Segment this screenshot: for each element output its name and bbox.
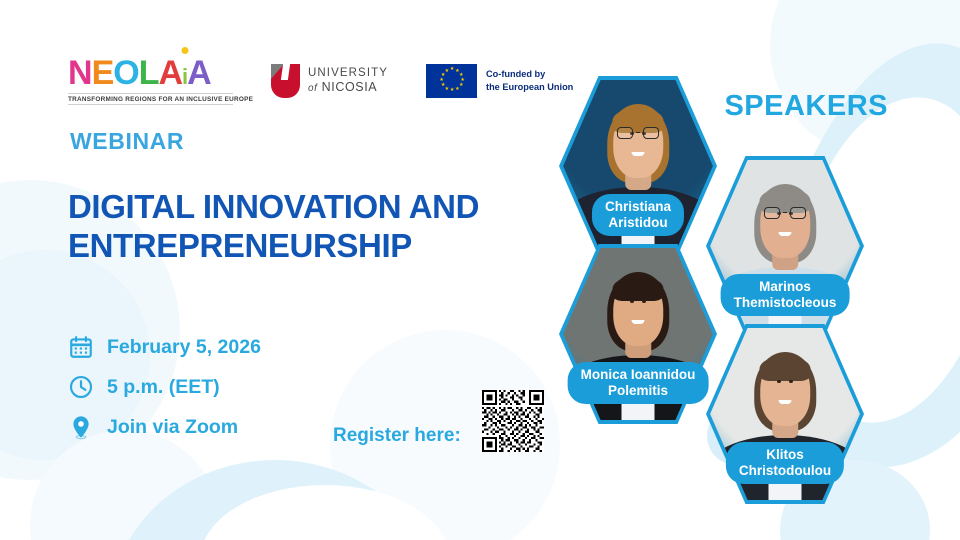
page-title: DIGITAL INNOVATION AND ENTREPRENEURSHIP: [68, 188, 568, 265]
calendar-icon: [68, 334, 94, 360]
speaker-name-pill: KlitosChristodoulou: [726, 442, 844, 484]
university-of-word: of: [308, 83, 318, 94]
neolaia-letter-2: O: [113, 56, 138, 90]
eu-funding-text: Co-funded by the European Union: [486, 68, 573, 93]
neolaia-logo: NEOLAiA TRANSFORMING REGIONS FOR AN INCL…: [68, 56, 233, 105]
register-label: Register here:: [333, 425, 461, 447]
eu-star-icon: ★: [441, 84, 444, 87]
eu-cofunded-logo: ★★★★★★★★★★★★ Co-funded by the European U…: [426, 64, 573, 98]
neolaia-letter-0: N: [68, 56, 92, 90]
detail-row-clock: 5 p.m. (EET): [68, 374, 261, 400]
eu-star-icon: ★: [445, 70, 448, 73]
eu-star-icon: ★: [450, 68, 453, 71]
detail-text: 5 p.m. (EET): [107, 376, 220, 399]
qr-code-icon: [482, 390, 544, 452]
speaker-name-line1: Klitos: [739, 447, 831, 463]
neolaia-letter-4: A: [158, 56, 182, 90]
eu-line1: Co-funded by: [486, 68, 573, 80]
decorative-circle-top-right: [770, 0, 960, 160]
speakers-heading: SPEAKERS: [724, 90, 888, 123]
eu-star-icon: ★: [450, 89, 453, 92]
speaker-name-line2: Themistocleous: [734, 295, 837, 311]
event-details: February 5, 20265 p.m. (EET)Join via Zoo…: [68, 334, 261, 440]
neolaia-letter-1: E: [92, 56, 114, 90]
detail-row-location-pin: Join via Zoom: [68, 414, 261, 440]
speaker-name-pill: MarinosThemistocleous: [721, 274, 850, 316]
eu-flag-icon: ★★★★★★★★★★★★: [426, 64, 477, 98]
eu-star-icon: ★: [445, 88, 448, 91]
eu-star-icon: ★: [455, 88, 458, 91]
speaker-name-pill: Monica IoannidouPolemitis: [568, 362, 709, 404]
webinar-poster: NEOLAiA TRANSFORMING REGIONS FOR AN INCL…: [0, 0, 960, 540]
university-city: NICOSIA: [322, 80, 378, 94]
location-pin-icon: [68, 414, 94, 440]
detail-text: Join via Zoom: [107, 416, 238, 439]
neolaia-letter-dot: [181, 47, 188, 54]
neolaia-wordmark: NEOLAiA: [68, 56, 211, 90]
decorative-wave-bottom: [110, 460, 440, 540]
speaker-name-line1: Marinos: [734, 279, 837, 295]
speaker-glasses: [617, 127, 659, 139]
eu-line2: the European Union: [486, 81, 573, 93]
university-of-nicosia-logo: UNIVERSITY of NICOSIA: [271, 64, 388, 98]
decorative-wave-cutout: [200, 485, 450, 540]
neolaia-letter-3: L: [139, 56, 159, 90]
neolaia-letter-5: i: [182, 56, 187, 90]
neolaia-letter-6: A: [187, 56, 211, 90]
neolaia-tagline: TRANSFORMING REGIONS FOR AN INCLUSIVE EU…: [68, 93, 233, 105]
speaker-name-line1: Christiana: [605, 199, 671, 215]
university-line2: of NICOSIA: [308, 80, 388, 94]
detail-row-calendar: February 5, 2026: [68, 334, 261, 360]
speaker-name-line2: Polemitis: [581, 383, 696, 399]
logo-row: NEOLAiA TRANSFORMING REGIONS FOR AN INCL…: [68, 56, 573, 105]
clock-icon: [68, 374, 94, 400]
unic-u-mark-icon: [271, 64, 300, 98]
speaker-name-line1: Monica Ioannidou: [581, 367, 696, 383]
eu-star-icon: ★: [441, 74, 444, 77]
speaker-name-pill: ChristianaAristidou: [592, 194, 684, 236]
eu-star-icon: ★: [455, 70, 458, 73]
kicker-webinar: WEBINAR: [70, 128, 184, 155]
speaker-name-line2: Aristidou: [605, 215, 671, 231]
eu-star-icon: ★: [439, 79, 442, 82]
speaker-name-line2: Christodoulou: [739, 463, 831, 479]
university-line1: UNIVERSITY: [308, 67, 388, 80]
speaker-glasses: [764, 207, 806, 219]
decorative-circle-bottom-left: [30, 430, 220, 540]
detail-text: February 5, 2026: [107, 336, 261, 359]
university-name: UNIVERSITY of NICOSIA: [308, 67, 388, 94]
registration-qr-code[interactable]: [482, 390, 544, 452]
